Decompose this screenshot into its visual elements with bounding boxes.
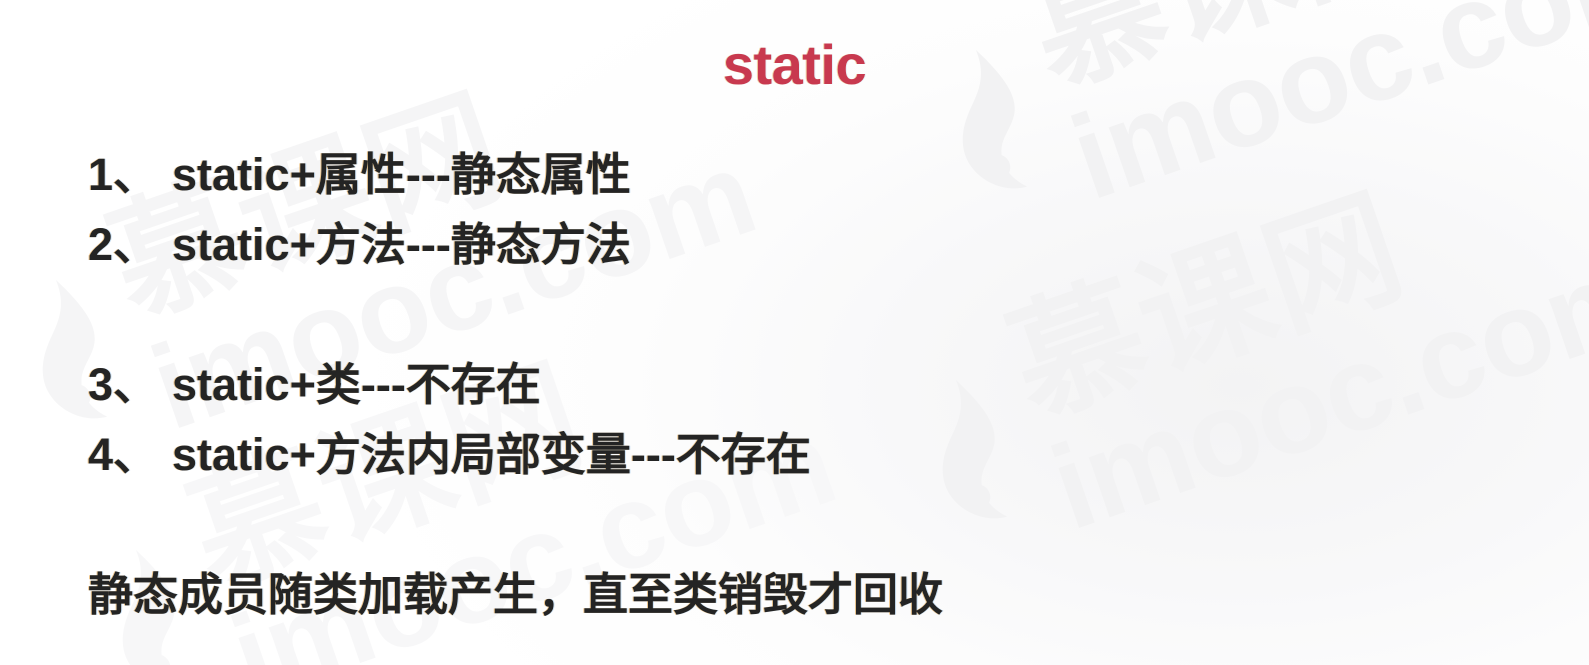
blank-line bbox=[88, 280, 1508, 350]
list-item: 2、static+方法---静态方法 bbox=[88, 210, 1508, 280]
list-item: 1、static+属性---静态属性 bbox=[88, 140, 1508, 210]
list-item: 4、static+方法内局部变量---不存在 bbox=[88, 420, 1508, 490]
slide-canvas: 慕课网 imooc.com 慕课网 imooc.com bbox=[0, 0, 1589, 665]
list-item-text: static+方法---静态方法 bbox=[172, 219, 631, 270]
blank-line bbox=[88, 490, 1508, 560]
bullet-list: 1、static+属性---静态属性 2、static+方法---静态方法 3、… bbox=[88, 140, 1508, 630]
list-item-text: static+类---不存在 bbox=[172, 359, 541, 410]
list-item-text: static+方法内局部变量---不存在 bbox=[172, 429, 811, 480]
list-item-index: 4、 bbox=[88, 420, 158, 490]
list-item: 3、static+类---不存在 bbox=[88, 350, 1508, 420]
list-item-index: 2、 bbox=[88, 210, 158, 280]
slide-content: static 1、static+属性---静态属性 2、static+方法---… bbox=[0, 0, 1589, 665]
summary-line: 静态成员随类加载产生，直至类销毁才回收 bbox=[88, 560, 1508, 630]
page-title: static bbox=[0, 34, 1589, 96]
list-item-text: static+属性---静态属性 bbox=[172, 149, 631, 200]
list-item-index: 3、 bbox=[88, 350, 158, 420]
list-item-index: 1、 bbox=[88, 140, 158, 210]
